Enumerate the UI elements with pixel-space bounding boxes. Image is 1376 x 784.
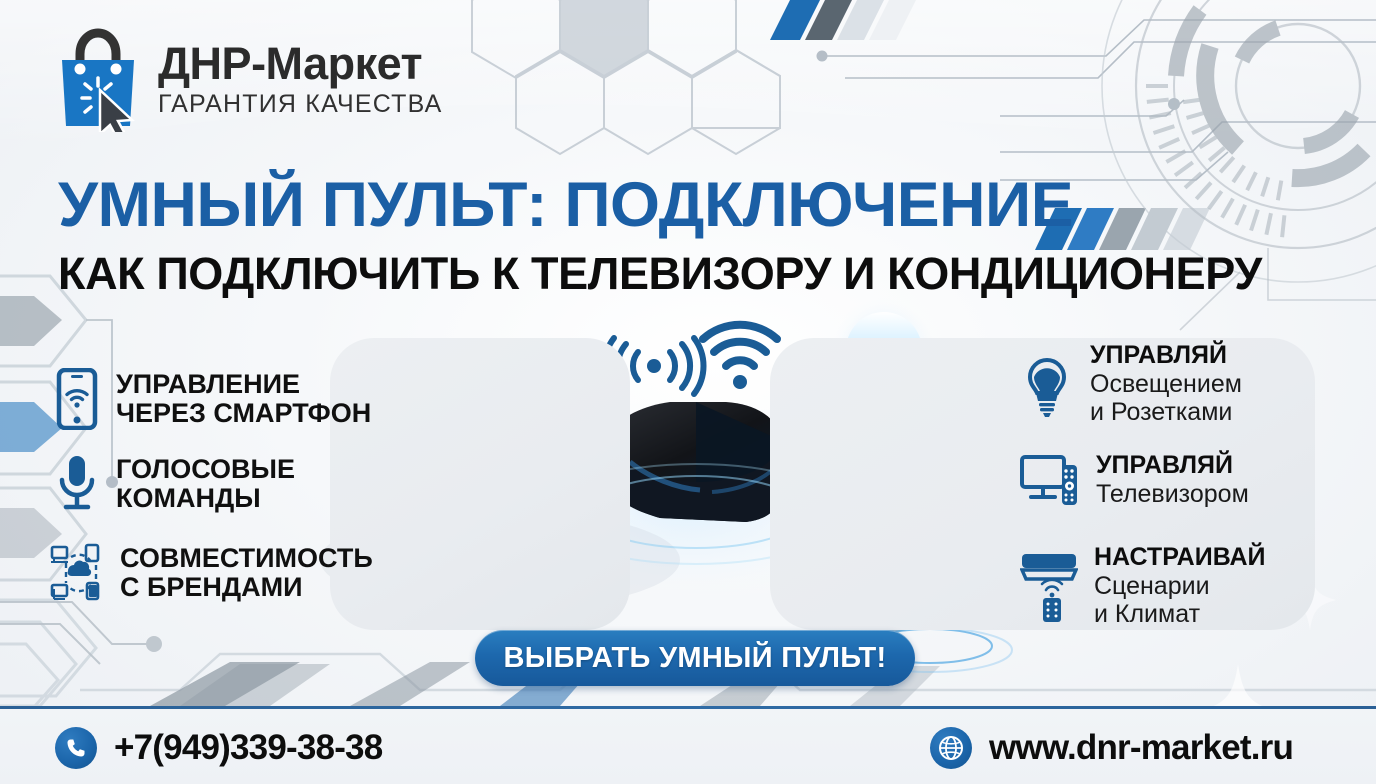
feature-climate-scenarios: НАСТРАИВАЙ Сценарии и Климат bbox=[1020, 544, 1266, 628]
website-url: www.dnr-market.ru bbox=[989, 728, 1293, 768]
feature-label-head: УПРАВЛЯЙ bbox=[1096, 452, 1249, 480]
brand-tagline: ГАРАНТИЯ КАЧЕСТВА bbox=[158, 89, 443, 119]
feature-smartphone-control: УПРАВЛЕНИЕ ЧЕРЕЗ СМАРТФОН bbox=[54, 368, 371, 430]
feature-label-sub2: и Климат bbox=[1094, 600, 1266, 628]
globe-icon bbox=[930, 727, 972, 769]
headline-secondary: КАК ПОДКЛЮЧИТЬ К ТЕЛЕВИЗОРУ И КОНДИЦИОНЕ… bbox=[58, 251, 1338, 296]
brand-logo[interactable]: ДНР-Маркет ГАРАНТИЯ КАЧЕСТВА bbox=[52, 28, 443, 132]
promo-banner: ДНР-Маркет ГАРАНТИЯ КАЧЕСТВА УМНЫЙ ПУЛЬТ… bbox=[0, 0, 1376, 784]
brand-name: ДНР-Маркет bbox=[158, 41, 443, 87]
microphone-icon bbox=[54, 453, 100, 515]
feature-lighting-control: УПРАВЛЯЙ Освещением и Розетками bbox=[1020, 342, 1242, 426]
shopping-bag-cursor-icon bbox=[52, 28, 144, 132]
website-contact[interactable]: www.dnr-market.ru bbox=[930, 727, 1293, 769]
feature-label-line1: УПРАВЛЕНИЕ bbox=[116, 370, 371, 399]
feature-label-sub1: Освещением bbox=[1090, 370, 1242, 398]
feature-label-line2: С БРЕНДАМИ bbox=[120, 573, 373, 602]
light-bulb-icon bbox=[1020, 351, 1074, 417]
feature-label-line1: СОВМЕСТИМОСТЬ bbox=[120, 544, 373, 573]
phone-number: +7(949)339-38-38 bbox=[114, 728, 382, 768]
feature-label-head: НАСТРАИВАЙ bbox=[1094, 544, 1266, 572]
phone-contact[interactable]: +7(949)339-38-38 bbox=[55, 727, 382, 769]
tv-remote-icon bbox=[1020, 453, 1080, 507]
feature-label-line1: ГОЛОСОВЫЕ bbox=[116, 455, 295, 484]
feature-label-sub2: и Розетками bbox=[1090, 398, 1242, 426]
feature-label-sub1: Сценарии bbox=[1094, 572, 1266, 600]
phone-icon bbox=[55, 727, 97, 769]
cta-button[interactable]: ВЫБРАТЬ УМНЫЙ ПУЛЬТ! bbox=[475, 630, 915, 686]
headline-primary: УМНЫЙ ПУЛЬТ: ПОДКЛЮЧЕНИЕ bbox=[58, 174, 1353, 237]
feature-label-line2: ЧЕРЕЗ СМАРТФОН bbox=[116, 399, 371, 428]
feature-tv-control: УПРАВЛЯЙ Телевизором bbox=[1020, 452, 1249, 508]
feature-brand-compatibility: СОВМЕСТИМОСТЬ С БРЕНДАМИ bbox=[50, 543, 373, 603]
footer-divider bbox=[0, 706, 1376, 709]
air-conditioner-remote-icon bbox=[1020, 550, 1078, 622]
feature-label-head: УПРАВЛЯЙ bbox=[1090, 342, 1242, 370]
feature-voice-commands: ГОЛОСОВЫЕ КОМАНДЫ bbox=[54, 453, 295, 515]
wifi-icon bbox=[703, 325, 777, 389]
left-feature-panel bbox=[330, 338, 630, 630]
smartphone-wifi-icon bbox=[54, 368, 100, 430]
feature-label-line2: КОМАНДЫ bbox=[116, 484, 295, 513]
feature-label-sub1: Телевизором bbox=[1096, 480, 1249, 508]
devices-network-icon bbox=[50, 543, 104, 603]
